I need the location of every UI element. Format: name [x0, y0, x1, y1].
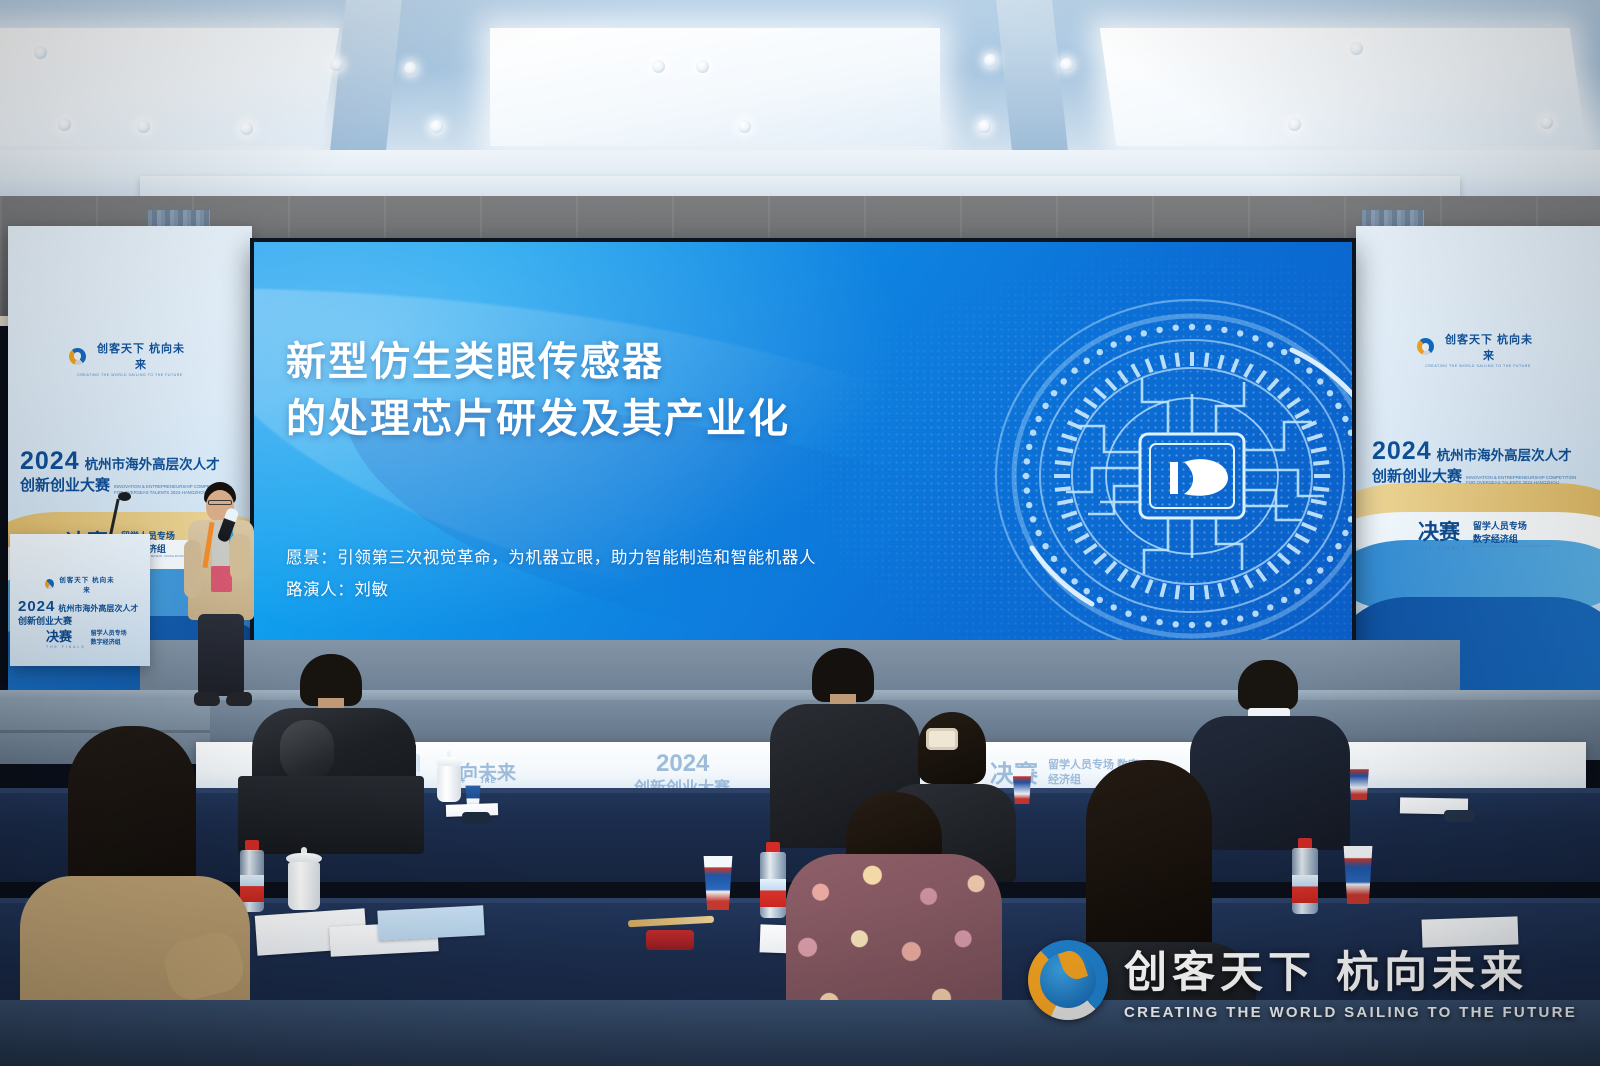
downlight [696, 60, 709, 73]
downlight [1060, 58, 1073, 71]
led-screen-content: 新型仿生类眼传感器 的处理芯片研发及其产业化 愿景：引领第三次视觉革命，为机器立… [254, 242, 1352, 700]
ceiling-cove-center [490, 28, 940, 146]
downlight [1350, 42, 1363, 55]
cup-body [463, 778, 483, 806]
downlight [652, 60, 665, 73]
downlight [404, 62, 417, 75]
podium-sign: 创客天下 杭向未来 2024 杭州市海外高层次人才 创新创业大赛 决赛 THE … [10, 534, 150, 666]
backdrop-sub-en-2: FOR OVERSEAS TALENTS 2024·HANGZHOU [1466, 480, 1576, 486]
backdrop-logo-left: 创客天下 杭向未来 CREATING THE WORLD SAILING TO … [69, 340, 191, 377]
downlight [984, 54, 997, 67]
podium-finals-cn: 决赛 [46, 626, 86, 645]
presenter-speaking [178, 482, 262, 714]
slide-title-line1: 新型仿生类眼传感器 [286, 334, 790, 391]
cup-body [700, 856, 736, 910]
backdrop-group-2: 数字经济组 [1473, 532, 1551, 545]
podium-title: 2024 杭州市海外高层次人才 创新创业大赛 [18, 600, 144, 627]
downlight [240, 122, 253, 135]
backdrop-logo-en: CREATING THE WORLD SAILING TO THE FUTURE [1417, 364, 1539, 368]
presenter-jeans [198, 614, 244, 696]
jacket-highlight [280, 720, 334, 782]
hair-clip-icon [926, 728, 958, 750]
downlight [430, 120, 443, 133]
backdrop-finals-right: 决赛 THE FINALS 留学人员专场 数字经济组 OVERSEAS STUD… [1418, 516, 1551, 552]
downlight [978, 120, 991, 133]
backdrop-title-line2: 创新创业大赛 [1372, 465, 1462, 486]
presenter-shoe-right [226, 692, 252, 706]
long-hair [1086, 760, 1212, 966]
brand-mark-icon [69, 348, 86, 365]
led-stage-screen: 新型仿生类眼传感器 的处理芯片研发及其产业化 愿景：引领第三次视觉革命，为机器立… [250, 238, 1356, 704]
ceiling [0, 0, 1600, 172]
presenter-arm-left [184, 540, 201, 598]
downlight [58, 118, 71, 131]
podium-finals-en: THE FINALS [46, 645, 86, 649]
podium-group-1: 留学人员专场 [91, 628, 127, 637]
podium-finals: 决赛 THE FINALS 留学人员专场 数字经济组 [46, 626, 127, 649]
presenter-shoe-left [194, 692, 220, 706]
paper-cup [700, 856, 736, 910]
paper-cup [463, 778, 483, 806]
watermark-en: CREATING THE WORLD SAILING TO THE FUTURE [1124, 1004, 1577, 1021]
podium-logo-cn: 创客天下 杭向未来 [59, 574, 115, 594]
backdrop-panel-right: 创客天下 杭向未来 CREATING THE WORLD SAILING TO … [1356, 226, 1600, 702]
slide-vision-line: 愿景：引领第三次视觉革命，为机器立眼，助力智能制造和智能机器人 [286, 542, 816, 574]
hair [1238, 660, 1298, 710]
backdrop-finals-cn: 决赛 [1418, 516, 1467, 546]
conference-hall-photo: 创客天下 杭向未来 CREATING THE WORLD SAILING TO … [0, 0, 1600, 1066]
backdrop-title-right: 2024 杭州市海外高层次人才 创新创业大赛 INNOVATION & ENTR… [1372, 440, 1594, 486]
watermark-cn: 创客天下 杭向未来 [1124, 938, 1577, 1000]
backdrop-group-en: OVERSEAS STUDENTS SESSION · DIGITAL ECON… [1473, 545, 1551, 548]
paper-cup [1340, 846, 1376, 904]
slide-title: 新型仿生类眼传感器 的处理芯片研发及其产业化 [286, 334, 790, 448]
eye-chip-circuit-emblem [992, 286, 1352, 666]
tea-mug [437, 766, 461, 802]
podium-logo: 创客天下 杭向未来 [45, 574, 115, 594]
ceiling-beam-left [330, 0, 402, 150]
ceiling-cove-left [0, 28, 339, 146]
backdrop-group-1: 留学人员专场 [1473, 519, 1551, 532]
water-bottle [1292, 838, 1318, 914]
backdrop-logo-right: 创客天下 杭向未来 CREATING THE WORLD SAILING TO … [1417, 331, 1539, 368]
ceiling-beam-right [996, 0, 1068, 150]
smartphone-red-case [646, 930, 694, 950]
slide-subtitle: 愿景：引领第三次视觉革命，为机器立眼，助力智能制造和智能机器人 路演人：刘敏 [286, 542, 816, 606]
cup-body [1340, 846, 1376, 904]
brand-mark-icon [1417, 338, 1434, 355]
ceiling-cove-right [1100, 28, 1587, 146]
presenter-glasses-icon [208, 500, 232, 505]
water-bottle [760, 842, 786, 918]
scoring-sheet [377, 905, 484, 941]
brand-mark-icon [45, 579, 54, 589]
presenter-badge [211, 566, 232, 592]
downlight [330, 58, 343, 71]
smartphone [462, 812, 490, 824]
backdrop-title-line1: 杭州市海外高层次人才 [85, 453, 220, 473]
downlight [1288, 118, 1301, 131]
bottle-label [760, 879, 786, 908]
podium-title-1: 杭州市海外高层次人才 [58, 603, 138, 614]
chuangke-tianxia-logo-icon [1028, 940, 1108, 1020]
mug-body [437, 766, 461, 802]
downlight [1540, 116, 1553, 129]
bottle-label [1292, 875, 1318, 904]
backdrop-logo-en: CREATING THE WORLD SAILING TO THE FUTURE [69, 373, 191, 377]
backdrop-title-line1: 杭州市海外高层次人才 [1437, 444, 1572, 464]
mug-body [288, 862, 320, 910]
backdrop-title-line2: 创新创业大赛 [20, 474, 110, 495]
presenter-arm-right [230, 534, 250, 580]
backdrop-logo-cn: 创客天下 杭向未来 [91, 340, 191, 372]
downlight [738, 120, 751, 133]
backdrop-year: 2024 [20, 450, 80, 474]
backdrop-logo-cn: 创客天下 杭向未来 [1439, 331, 1539, 363]
microphone-head-icon [118, 492, 131, 501]
watermark-branding: 创客天下 杭向未来 CREATING THE WORLD SAILING TO … [1028, 938, 1577, 1021]
podium-year: 2024 [18, 600, 55, 614]
podium-title-2: 创新创业大赛 [18, 614, 144, 627]
slide-presenter-line: 路演人：刘敏 [286, 574, 816, 606]
slide-title-line2: 的处理芯片研发及其产业化 [286, 391, 790, 448]
backdrop-finals-en: THE FINALS [1418, 546, 1467, 552]
downlight [137, 120, 150, 133]
backdrop-year: 2024 [1372, 440, 1432, 464]
chair-back [238, 776, 424, 854]
smartphone [1444, 810, 1474, 822]
downlight [34, 46, 47, 59]
tea-mug [288, 862, 320, 910]
podium-group-2: 数字经济组 [91, 637, 127, 646]
